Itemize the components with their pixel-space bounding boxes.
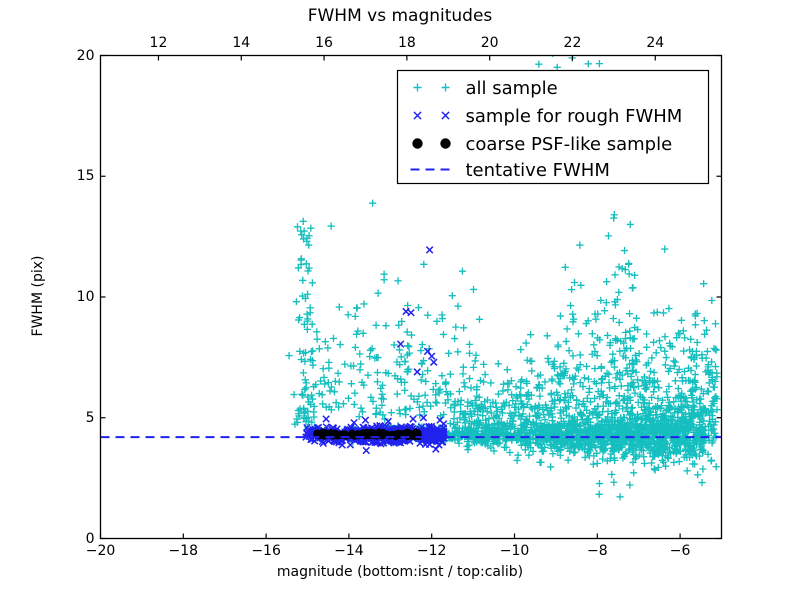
x-tick-label-bottom: −6 — [670, 543, 691, 559]
x-tick-label-top: 20 — [481, 35, 499, 51]
legend-entry-label: all sample — [466, 78, 558, 99]
y-axis-label: FWHM (pix) — [30, 166, 46, 426]
chart-legend: all samplesample for rough FWHMcoarse PS… — [398, 71, 709, 184]
scatter-plot-svg: all samplesample for rough FWHMcoarse PS… — [0, 0, 800, 600]
y-tick-label: 20 — [77, 48, 95, 64]
legend-entry-label: coarse PSF-like sample — [466, 134, 673, 155]
y-tick-label: 15 — [77, 168, 95, 184]
x-tick-label-top: 14 — [232, 35, 250, 51]
y-tick-label: 0 — [86, 531, 95, 547]
legend-entry-label: sample for rough FWHM — [466, 106, 683, 127]
x-tick-label-top: 12 — [150, 35, 168, 51]
x-tick-label-bottom: −16 — [251, 543, 281, 559]
x-tick-label-top: 24 — [646, 35, 664, 51]
chart-title: FWHM vs magnitudes — [0, 6, 800, 26]
x-tick-label-bottom: −10 — [500, 543, 530, 559]
x-tick-label-top: 16 — [315, 35, 333, 51]
x-tick-label-top: 22 — [564, 35, 582, 51]
figure-canvas: all samplesample for rough FWHMcoarse PS… — [0, 0, 800, 600]
legend-entry-label: tentative FWHM — [466, 160, 610, 181]
x-tick-label-bottom: −18 — [169, 543, 199, 559]
x-tick-label-bottom: −12 — [417, 543, 447, 559]
x-tick-label-bottom: −8 — [587, 543, 608, 559]
x-tick-label-bottom: −14 — [334, 543, 364, 559]
x-axis-label: magnitude (bottom:isnt / top:calib) — [0, 564, 800, 580]
x-tick-label-top: 18 — [398, 35, 416, 51]
y-tick-label: 5 — [86, 410, 95, 426]
y-tick-label: 10 — [77, 289, 95, 305]
